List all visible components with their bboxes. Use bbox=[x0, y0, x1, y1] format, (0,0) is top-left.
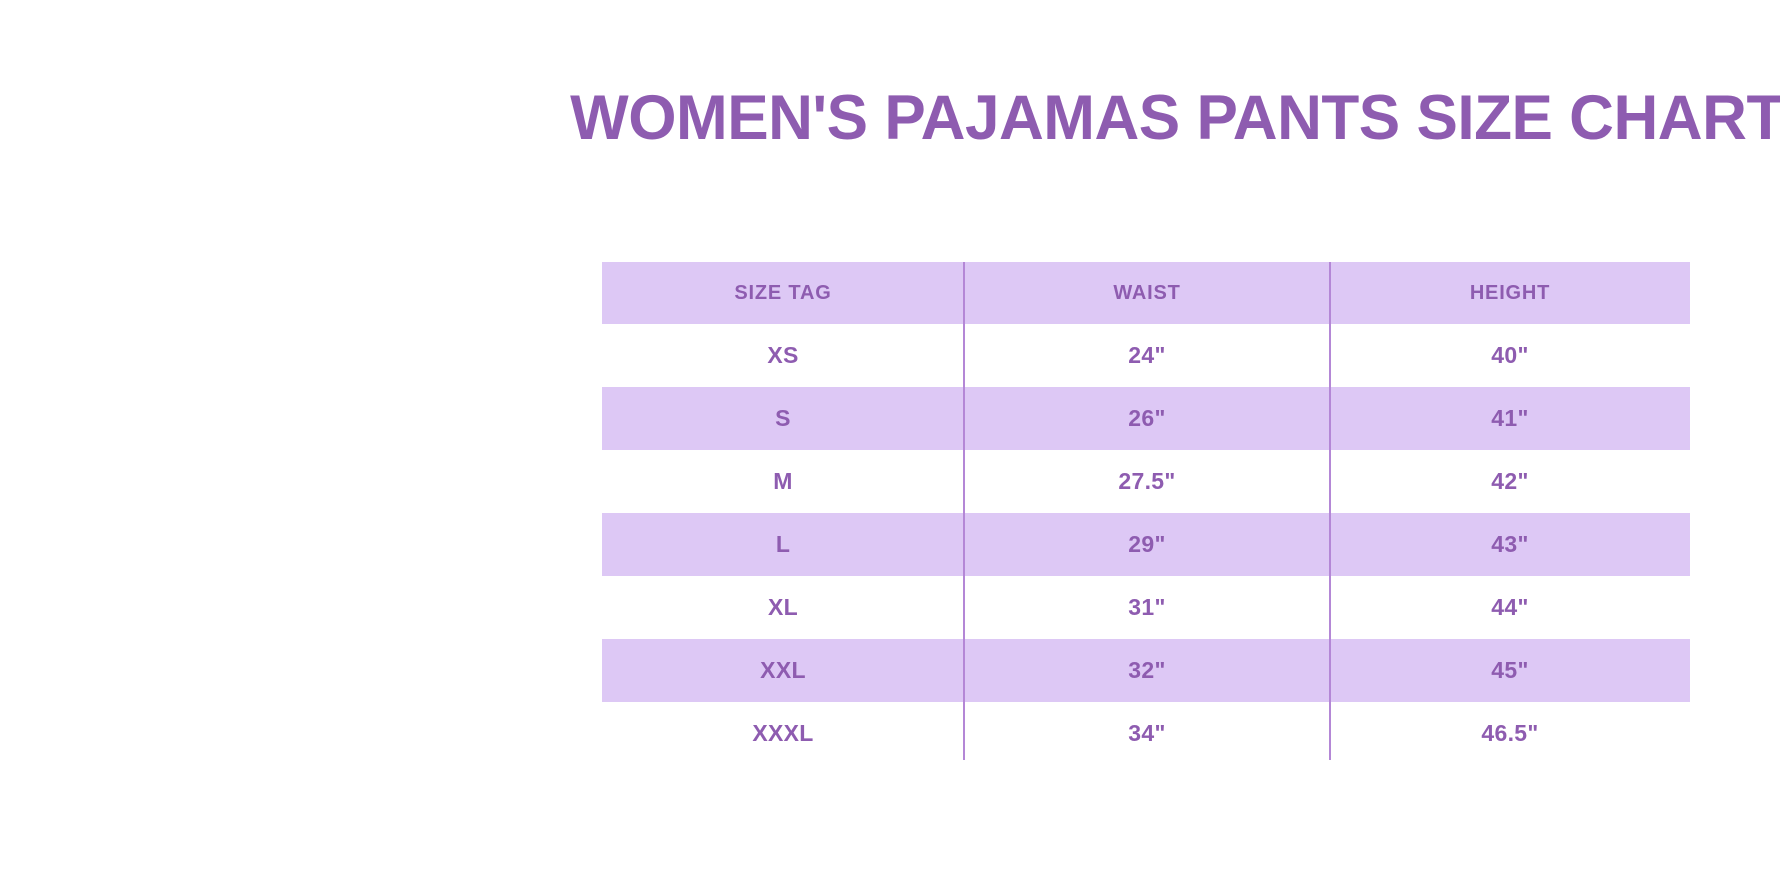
size-chart-table: SIZE TAG WAIST HEIGHT XS 24" 40" S 26" 4… bbox=[602, 262, 1690, 765]
cell-waist: 29" bbox=[964, 513, 1330, 576]
table-header: SIZE TAG WAIST HEIGHT bbox=[602, 262, 1690, 324]
cell-size-tag: M bbox=[602, 450, 964, 513]
table-body: XS 24" 40" S 26" 41" M 27.5" 42" L 29" 4… bbox=[602, 324, 1690, 765]
cell-size-tag: L bbox=[602, 513, 964, 576]
cell-waist: 31" bbox=[964, 576, 1330, 639]
table-row: XXXL 34" 46.5" bbox=[602, 702, 1690, 765]
page-title: WOMEN'S PAJAMAS PANTS SIZE CHART bbox=[611, 78, 1744, 158]
cell-waist: 32" bbox=[964, 639, 1330, 702]
column-divider-line bbox=[963, 262, 965, 760]
table-row: XXL 32" 45" bbox=[602, 639, 1690, 702]
cell-height: 46.5" bbox=[1330, 702, 1690, 765]
table-row: M 27.5" 42" bbox=[602, 450, 1690, 513]
cell-size-tag: XXL bbox=[602, 639, 964, 702]
cell-height: 45" bbox=[1330, 639, 1690, 702]
cell-size-tag: XL bbox=[602, 576, 964, 639]
cell-height: 40" bbox=[1330, 324, 1690, 387]
cell-waist: 26" bbox=[964, 387, 1330, 450]
cell-height: 41" bbox=[1330, 387, 1690, 450]
cell-waist: 24" bbox=[964, 324, 1330, 387]
table-row: S 26" 41" bbox=[602, 387, 1690, 450]
cell-height: 44" bbox=[1330, 576, 1690, 639]
cell-size-tag: XS bbox=[602, 324, 964, 387]
column-header-size-tag: SIZE TAG bbox=[602, 262, 964, 324]
table-row: XL 31" 44" bbox=[602, 576, 1690, 639]
size-chart-page: WOMEN'S PAJAMAS PANTS SIZE CHART SIZE TA… bbox=[0, 0, 1780, 890]
table-header-row: SIZE TAG WAIST HEIGHT bbox=[602, 262, 1690, 324]
cell-waist: 34" bbox=[964, 702, 1330, 765]
cell-size-tag: S bbox=[602, 387, 964, 450]
cell-size-tag: XXXL bbox=[602, 702, 964, 765]
cell-waist: 27.5" bbox=[964, 450, 1330, 513]
cell-height: 43" bbox=[1330, 513, 1690, 576]
cell-height: 42" bbox=[1330, 450, 1690, 513]
column-header-height: HEIGHT bbox=[1330, 262, 1690, 324]
column-header-waist: WAIST bbox=[964, 262, 1330, 324]
column-divider-line bbox=[1329, 262, 1331, 760]
table-row: L 29" 43" bbox=[602, 513, 1690, 576]
table-row: XS 24" 40" bbox=[602, 324, 1690, 387]
